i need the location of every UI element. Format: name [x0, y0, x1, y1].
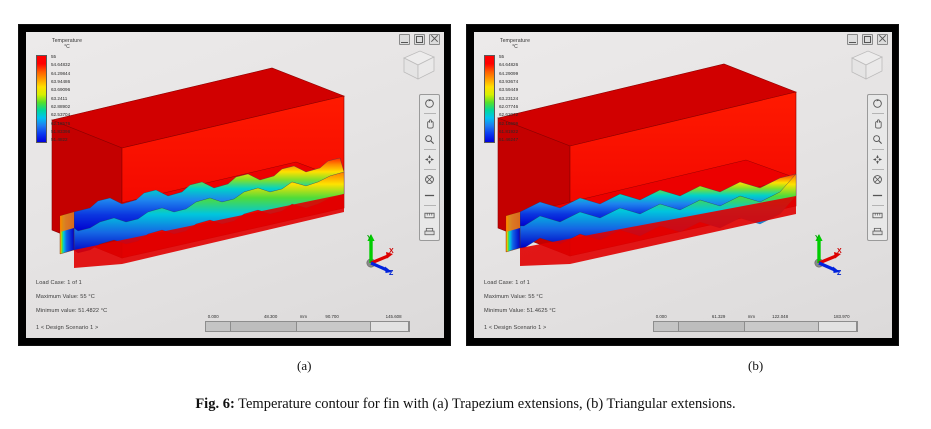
window-controls-b[interactable]: [847, 34, 888, 45]
legend-tick: 63.23124: [499, 97, 518, 102]
legend-unit: °C: [484, 44, 546, 50]
legend-tick: 64.29844: [51, 72, 70, 77]
ruler-segment: [371, 322, 409, 331]
svg-text:Z: Z: [837, 270, 842, 276]
fit-icon[interactable]: [871, 173, 885, 186]
orbit-icon[interactable]: [423, 153, 437, 166]
legend-tick: 62.62072: [499, 113, 518, 118]
legend-tick: 51.83398: [51, 130, 70, 135]
maximum-value-text-a: Maximum Value: 55 °C: [36, 294, 95, 300]
legend-tick: 63.59449: [499, 88, 518, 93]
legend-tick: 61.81922: [499, 130, 518, 135]
ruler-unit: mm: [300, 314, 307, 319]
measure-icon[interactable]: [871, 209, 885, 222]
toolbar-divider: [872, 169, 884, 170]
legend-tick: 62.18576: [51, 122, 70, 127]
viewport-b[interactable]: Temperature °C 55 64.64826 64.29099 63.9…: [474, 32, 892, 338]
minimize-icon[interactable]: [399, 34, 410, 45]
sublabel-b: (b): [748, 358, 763, 374]
rotate-icon[interactable]: [871, 97, 885, 110]
toolbar-divider: [872, 205, 884, 206]
legend-tick: 64.29099: [499, 72, 518, 77]
ruler-bar[interactable]: [205, 321, 410, 332]
ruler-label: 90.700: [325, 314, 338, 319]
temperature-legend-b: Temperature °C 55 64.64826 64.29099 63.9…: [484, 38, 546, 143]
colorbar: [36, 55, 47, 143]
close-icon[interactable]: [429, 34, 440, 45]
legend-tick: 62.53704: [51, 113, 70, 118]
toolbar-divider: [424, 169, 436, 170]
legend-tick: 55: [499, 55, 518, 60]
legend-tick: 62.07746: [499, 105, 518, 110]
legend-tick: 62.88902: [51, 105, 70, 110]
toolbar-divider: [872, 113, 884, 114]
legend-ticks-b: 55 64.64826 64.29099 63.93674 63.59449 6…: [499, 55, 518, 143]
legend-tick: 63.69096: [51, 88, 70, 93]
ruler-label: 0.000: [656, 314, 667, 319]
cad-window-a: Temperature °C 55 54.64832 64.29844 63.9…: [18, 24, 451, 346]
colorbar: [484, 55, 495, 143]
legend-tick: 62.16699: [499, 122, 518, 127]
maximize-icon[interactable]: [862, 34, 873, 45]
zoom-icon[interactable]: [871, 133, 885, 146]
ruler-segment: [679, 322, 745, 331]
caption-label: Fig. 6:: [195, 396, 234, 412]
axis-triad-a: Y X Z: [354, 230, 400, 276]
measure-icon[interactable]: [423, 209, 437, 222]
ruler-segment: [297, 322, 371, 331]
maximize-icon[interactable]: [414, 34, 425, 45]
toolbar-divider: [872, 149, 884, 150]
legend-tick: 63.93674: [499, 80, 518, 85]
axis-triad-b: Y X Z: [802, 230, 848, 276]
orbit-icon[interactable]: [871, 153, 885, 166]
svg-text:Y: Y: [815, 235, 820, 242]
ruler-label: 122.048: [772, 314, 788, 319]
minimum-value-text-b: Minimum Value: 51.4625 °C: [484, 308, 556, 314]
ruler-segment: [231, 322, 297, 331]
legend-ticks-a: 55 54.64832 64.29844 63.94486 63.69096 6…: [51, 55, 70, 143]
scale-ruler-b[interactable]: 0.000 61.329 mm 122.048 183.970: [653, 314, 858, 332]
legend-tick: 55: [51, 55, 70, 60]
rotate-icon[interactable]: [423, 97, 437, 110]
legend-tick: 51.46247: [499, 138, 518, 143]
minimum-value-text-a: Minimum value: 51.4822 °C: [36, 308, 107, 314]
svg-text:Y: Y: [367, 235, 372, 242]
ruler-label: 61.329: [712, 314, 725, 319]
figure-caption: Fig. 6: Temperature contour for fin with…: [0, 396, 931, 413]
legend-tick: 51.4822: [51, 138, 70, 143]
svg-text:X: X: [837, 248, 842, 255]
minimize-icon[interactable]: [847, 34, 858, 45]
load-case-text-b: Load Case: 1 of 1: [484, 280, 530, 286]
zoom-icon[interactable]: [423, 133, 437, 146]
close-icon[interactable]: [877, 34, 888, 45]
scale-ruler-a[interactable]: 0.000 48.300 mm 90.700 145.608: [205, 314, 410, 332]
ruler-label: 183.970: [834, 314, 850, 319]
print-icon[interactable]: [423, 225, 437, 238]
temperature-legend-a: Temperature °C 55 54.64832 64.29844 63.9…: [36, 38, 98, 143]
ruler-segment: [819, 322, 857, 331]
load-case-text-a: Load Case: 1 of 1: [36, 280, 82, 286]
design-scenario-text-a: 1 < Design Scenario 1 >: [36, 325, 98, 331]
cad-window-b: Temperature °C 55 64.64826 64.29099 63.9…: [466, 24, 899, 346]
section-icon[interactable]: [871, 189, 885, 202]
view-cube-icon[interactable]: [846, 46, 886, 84]
pan-hand-icon[interactable]: [871, 117, 885, 130]
ruler-segment: [654, 322, 679, 331]
svg-text:X: X: [389, 248, 394, 255]
legend-unit: °C: [36, 44, 98, 50]
ruler-label: 0.000: [208, 314, 219, 319]
caption-text: Temperature contour for fin with (a) Tra…: [235, 396, 736, 412]
ruler-bar[interactable]: [653, 321, 858, 332]
view-toolbar-a[interactable]: [419, 94, 440, 241]
section-icon[interactable]: [423, 189, 437, 202]
svg-text:Z: Z: [389, 270, 394, 276]
sublabel-a: (a): [297, 358, 311, 374]
viewport-a[interactable]: Temperature °C 55 54.64832 64.29844 63.9…: [26, 32, 444, 338]
ruler-segment: [206, 322, 231, 331]
legend-tick: 63.94486: [51, 80, 70, 85]
legend-tick: 63.2411: [51, 97, 70, 102]
print-icon[interactable]: [871, 225, 885, 238]
ruler-unit: mm: [748, 314, 755, 319]
toolbar-divider: [424, 149, 436, 150]
figure-page: Temperature °C 55 54.64832 64.29844 63.9…: [0, 0, 931, 429]
fit-icon[interactable]: [423, 173, 437, 186]
toolbar-divider: [424, 113, 436, 114]
maximum-value-text-b: Maximum Value: 55 °C: [484, 294, 543, 300]
toolbar-divider: [424, 205, 436, 206]
design-scenario-text-b: 1 < Design Scenario 1 >: [484, 325, 546, 331]
ruler-label: 145.608: [386, 314, 402, 319]
ruler-label: 48.300: [264, 314, 277, 319]
legend-tick: 54.64832: [51, 63, 70, 68]
ruler-segment: [745, 322, 819, 331]
pan-hand-icon[interactable]: [423, 117, 437, 130]
window-controls-a[interactable]: [399, 34, 440, 45]
view-toolbar-b[interactable]: [867, 94, 888, 241]
legend-tick: 64.64826: [499, 63, 518, 68]
view-cube-icon[interactable]: [398, 46, 438, 84]
